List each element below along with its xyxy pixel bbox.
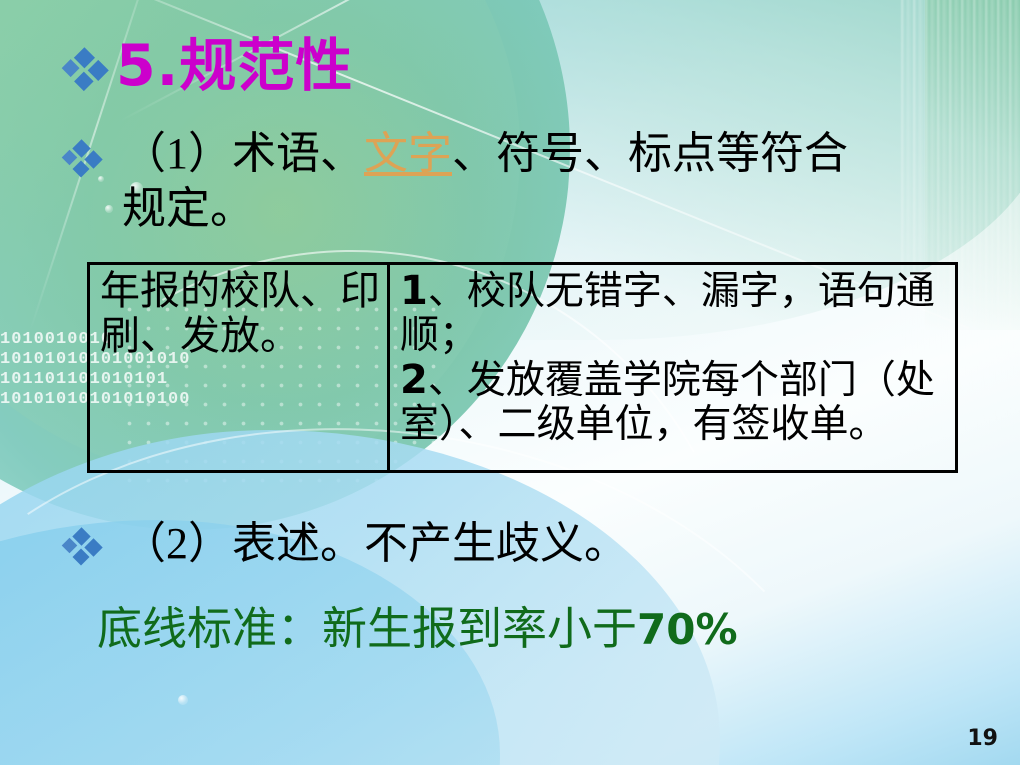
slide-canvas: 1010010010 10101010101001010 10110110101… (0, 0, 1020, 765)
table-right-item-1: 1、校队无错字、漏字，语句通顺； (400, 269, 951, 358)
bullet-line-2: （2）表述。不产生歧义。 (62, 516, 628, 571)
diamond-cluster-bullet-icon (62, 528, 104, 566)
line-2-text: （2）表述。不产生歧义。 (122, 516, 628, 571)
wenzi-hyperlink[interactable]: 文字 (364, 129, 452, 178)
page-number: 19 (967, 726, 998, 751)
table-left-text: 年报的校队、印刷、发放。 (100, 269, 381, 359)
item-1-text: 校队无错字、漏字，语句通顺； (400, 270, 935, 357)
line-1-text-block: （1）术语、文字、符号、标点等符合规定。 (122, 126, 848, 236)
line-1-suffix: 、符号、标点等符合 (452, 129, 848, 178)
baseline-standard-value: 70% (637, 605, 738, 654)
diamond-cluster-bullet-icon (62, 140, 104, 178)
table-cell-right: 1、校队无错字、漏字，语句通顺； 2、发放覆盖学院每个部门（处室）、二级单位，有… (390, 265, 955, 470)
baseline-standard-text: 底线标准：新生报到率小于 (97, 604, 637, 654)
table-right-item-2: 2、发放覆盖学院每个部门（处室）、二级单位，有签收单。 (400, 358, 951, 447)
item-2-separator: 、 (428, 359, 467, 402)
table-cell-left: 年报的校队、印刷、发放。 (90, 265, 390, 470)
item-2-number: 2 (400, 357, 428, 403)
line-1-prefix: （1）术语、 (122, 129, 364, 178)
bullet-line-1: （1）术语、文字、符号、标点等符合规定。 (62, 126, 992, 236)
slide-content: 5.规范性 （1）术语、文字、符号、标点等符合规定。 年报的校队、印刷、发放。 … (0, 0, 1020, 765)
page-title: 5.规范性 (116, 38, 353, 95)
criteria-table: 年报的校队、印刷、发放。 1、校队无错字、漏字，语句通顺； 2、发放覆盖学院每个… (87, 262, 958, 473)
baseline-standard-line: 底线标准：新生报到率小于70% (97, 592, 738, 657)
line-1-wrap: 规定。 (122, 184, 254, 233)
item-2-text: 发放覆盖学院每个部门（处室）、二级单位，有签收单。 (400, 359, 935, 446)
diamond-cluster-bullet-icon (62, 48, 110, 92)
item-1-number: 1 (400, 268, 428, 314)
slide-title-row: 5.规范性 (62, 38, 353, 95)
item-1-separator: 、 (428, 270, 467, 313)
